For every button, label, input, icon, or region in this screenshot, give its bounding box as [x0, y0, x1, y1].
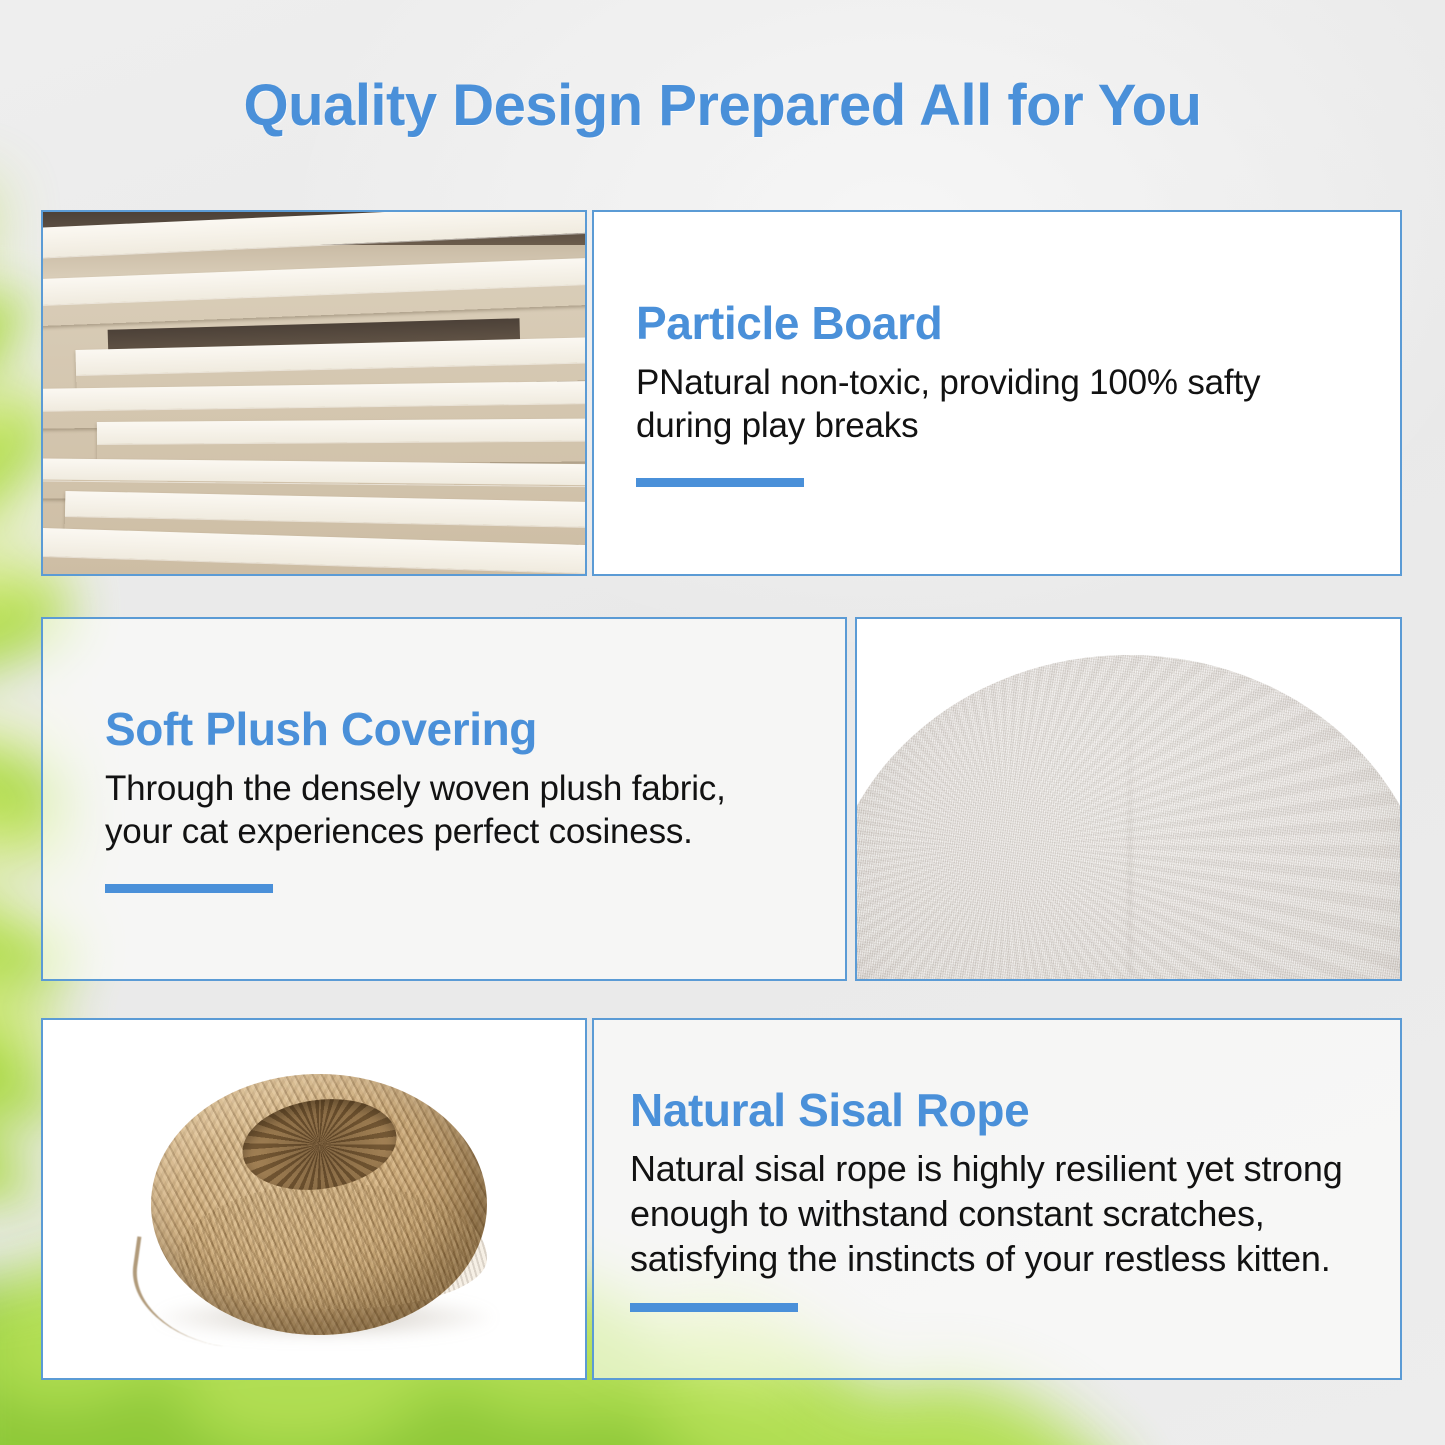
soft-plush-title: Soft Plush Covering [105, 705, 805, 755]
sisal-loose-thread [124, 1236, 281, 1352]
soft-plush-text-panel: Soft Plush Covering Through the densely … [41, 617, 847, 981]
soft-plush-accent-bar [105, 884, 273, 893]
particle-board-accent-bar [636, 478, 804, 487]
particle-board-image-panel [41, 210, 587, 576]
particle-board-photo [43, 212, 585, 574]
soft-plush-description: Through the densely woven plush fabric, … [105, 767, 765, 854]
infographic-page: Quality Design Prepared All for You [0, 0, 1445, 1445]
sisal-rope-title: Natural Sisal Rope [630, 1086, 1370, 1136]
plush-seam-line [1129, 674, 1131, 979]
sisal-ball-core [237, 1089, 402, 1198]
particle-board-description: PNatural non-toxic, providing 100% safty… [636, 361, 1344, 448]
sisal-rope-text-panel: Natural Sisal Rope Natural sisal rope is… [592, 1018, 1402, 1380]
sisal-rope-description: Natural sisal rope is highly resilient y… [630, 1147, 1370, 1281]
sisal-rope-accent-bar [630, 1303, 798, 1312]
plush-fabric-photo [857, 619, 1400, 979]
particle-board-title: Particle Board [636, 299, 1344, 349]
particle-board-text-panel: Particle Board PNatural non-toxic, provi… [592, 210, 1402, 576]
soft-plush-image-panel [855, 617, 1402, 981]
page-title: Quality Design Prepared All for You [0, 72, 1445, 139]
sisal-rope-image-panel [41, 1018, 587, 1380]
plush-dome-shape [857, 655, 1400, 979]
sisal-rope-photo [43, 1020, 585, 1378]
